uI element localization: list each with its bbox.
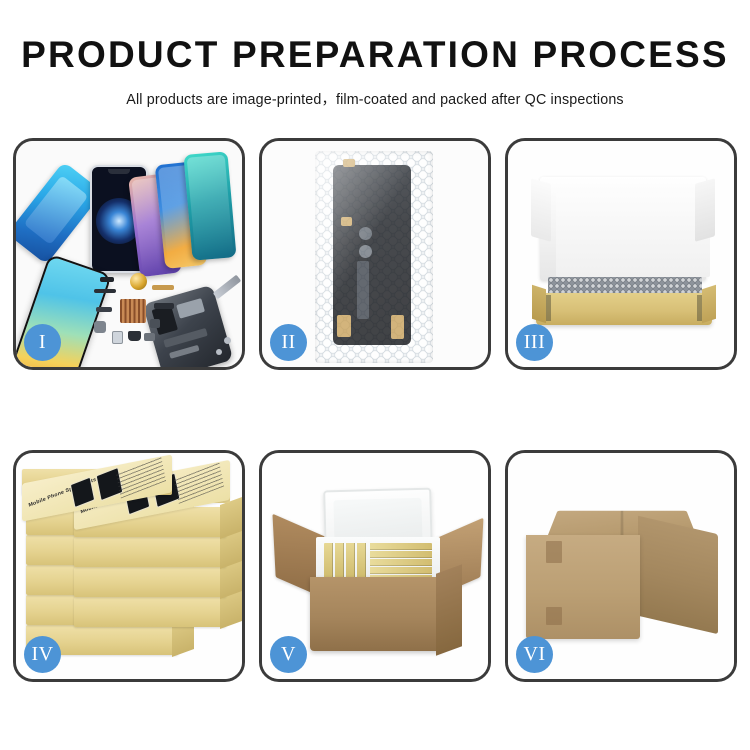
printed-screen-graphic-3 (70, 477, 95, 509)
stacked-box-7 (74, 567, 226, 597)
packed-box-8 (370, 567, 432, 574)
step-badge-2-label: II (281, 331, 295, 354)
foam-lid-icon (540, 177, 706, 281)
box-stack-icon: Mobile Phone Spare Parts Mobile Phone Sp… (22, 475, 236, 667)
component-icon-9 (144, 333, 155, 341)
speaker-module-icon (128, 331, 141, 341)
step-badge-5: V (270, 636, 307, 673)
packed-boxes-group (324, 543, 432, 581)
process-step-panel-3[interactable]: Open kraft tray box lined with white foa… (505, 138, 737, 370)
flex-cable-icon-1 (94, 289, 116, 293)
step-badge-3-label: III (524, 331, 545, 354)
screw-icon-1 (224, 337, 231, 344)
process-step-panel-4[interactable]: Mobile Phone Spare Parts Mobile Phone Sp… (13, 450, 245, 682)
step-badge-3: III (516, 324, 553, 361)
product-preparation-process-infographic: PRODUCT PREPARATION PROCESS All products… (0, 0, 750, 750)
printed-spec-lines-left (116, 456, 166, 498)
packed-box-1 (324, 543, 333, 581)
open-shipping-carton-icon (280, 479, 474, 665)
carton-side-face (638, 516, 718, 634)
tray-notch-right (697, 295, 702, 321)
step-badge-6: VI (516, 636, 553, 673)
stacked-box-8 (74, 537, 226, 567)
printed-spec-lines-right (174, 462, 224, 504)
step-badge-4-label: IV (31, 643, 53, 666)
carton-front-face (526, 535, 640, 639)
step-badge-4: IV (24, 636, 61, 673)
flex-cable-icon-2 (96, 307, 112, 312)
carton-body (310, 577, 442, 651)
header: PRODUCT PREPARATION PROCESS All products… (0, 0, 750, 109)
component-icon-10 (100, 277, 114, 282)
kraft-tray-icon (536, 293, 712, 325)
packed-box-4 (357, 543, 366, 581)
copper-grid-chip-icon (120, 299, 146, 323)
packed-box-5 (370, 543, 432, 550)
spare-parts-group (94, 273, 204, 357)
flex-cable-icon-3 (154, 303, 174, 309)
foam-sheet-icon (556, 193, 710, 277)
packed-box-6 (370, 551, 432, 558)
tape-mark-1 (546, 541, 562, 563)
page-title: PRODUCT PREPARATION PROCESS (0, 36, 750, 75)
process-step-panel-1[interactable]: Mobile phone parts, screens and componen… (13, 138, 245, 370)
step-badge-5-label: V (281, 643, 296, 666)
component-icon-3 (94, 321, 106, 333)
phone-notch-icon (108, 169, 130, 174)
step-badge-6-label: VI (523, 643, 545, 666)
packed-box-3 (346, 543, 355, 581)
open-tray-box-icon (530, 177, 716, 329)
sealed-carton-icon (522, 483, 722, 655)
process-step-grid: Mobile phone parts, screens and componen… (13, 138, 737, 682)
step-badge-1: I (24, 324, 61, 361)
page-subtitle: All products are image-printed，film-coat… (0, 88, 750, 109)
tape-mark-2 (546, 607, 562, 625)
step-badge-1-label: I (39, 331, 46, 354)
tray-notch-left (546, 295, 551, 321)
process-step-panel-5[interactable]: Boxes loaded into a styrofoam-lined ship… (259, 450, 491, 682)
plastic-gloss-overlay (315, 151, 433, 363)
packed-box-7 (370, 559, 432, 566)
phone-fan-group (134, 153, 242, 277)
component-icon-6 (150, 319, 160, 328)
sim-tray-icon (112, 331, 123, 344)
step-badge-2: II (270, 324, 307, 361)
bubble-wrap-sleeve-icon (315, 151, 433, 363)
top-left-box: Mobile Phone Spare Parts (22, 469, 172, 495)
stacked-box-6 (74, 597, 226, 627)
gold-coil-icon (130, 273, 147, 290)
gold-connector-icon (152, 285, 174, 290)
process-step-panel-2[interactable]: Individual screen sealed in bubble wrap … (259, 138, 491, 370)
teal-phone-icon (183, 151, 236, 260)
screw-icon-2 (216, 349, 222, 355)
packed-box-2 (335, 543, 344, 581)
process-step-panel-6[interactable]: Sealed and taped kraft shipping carton V… (505, 450, 737, 682)
